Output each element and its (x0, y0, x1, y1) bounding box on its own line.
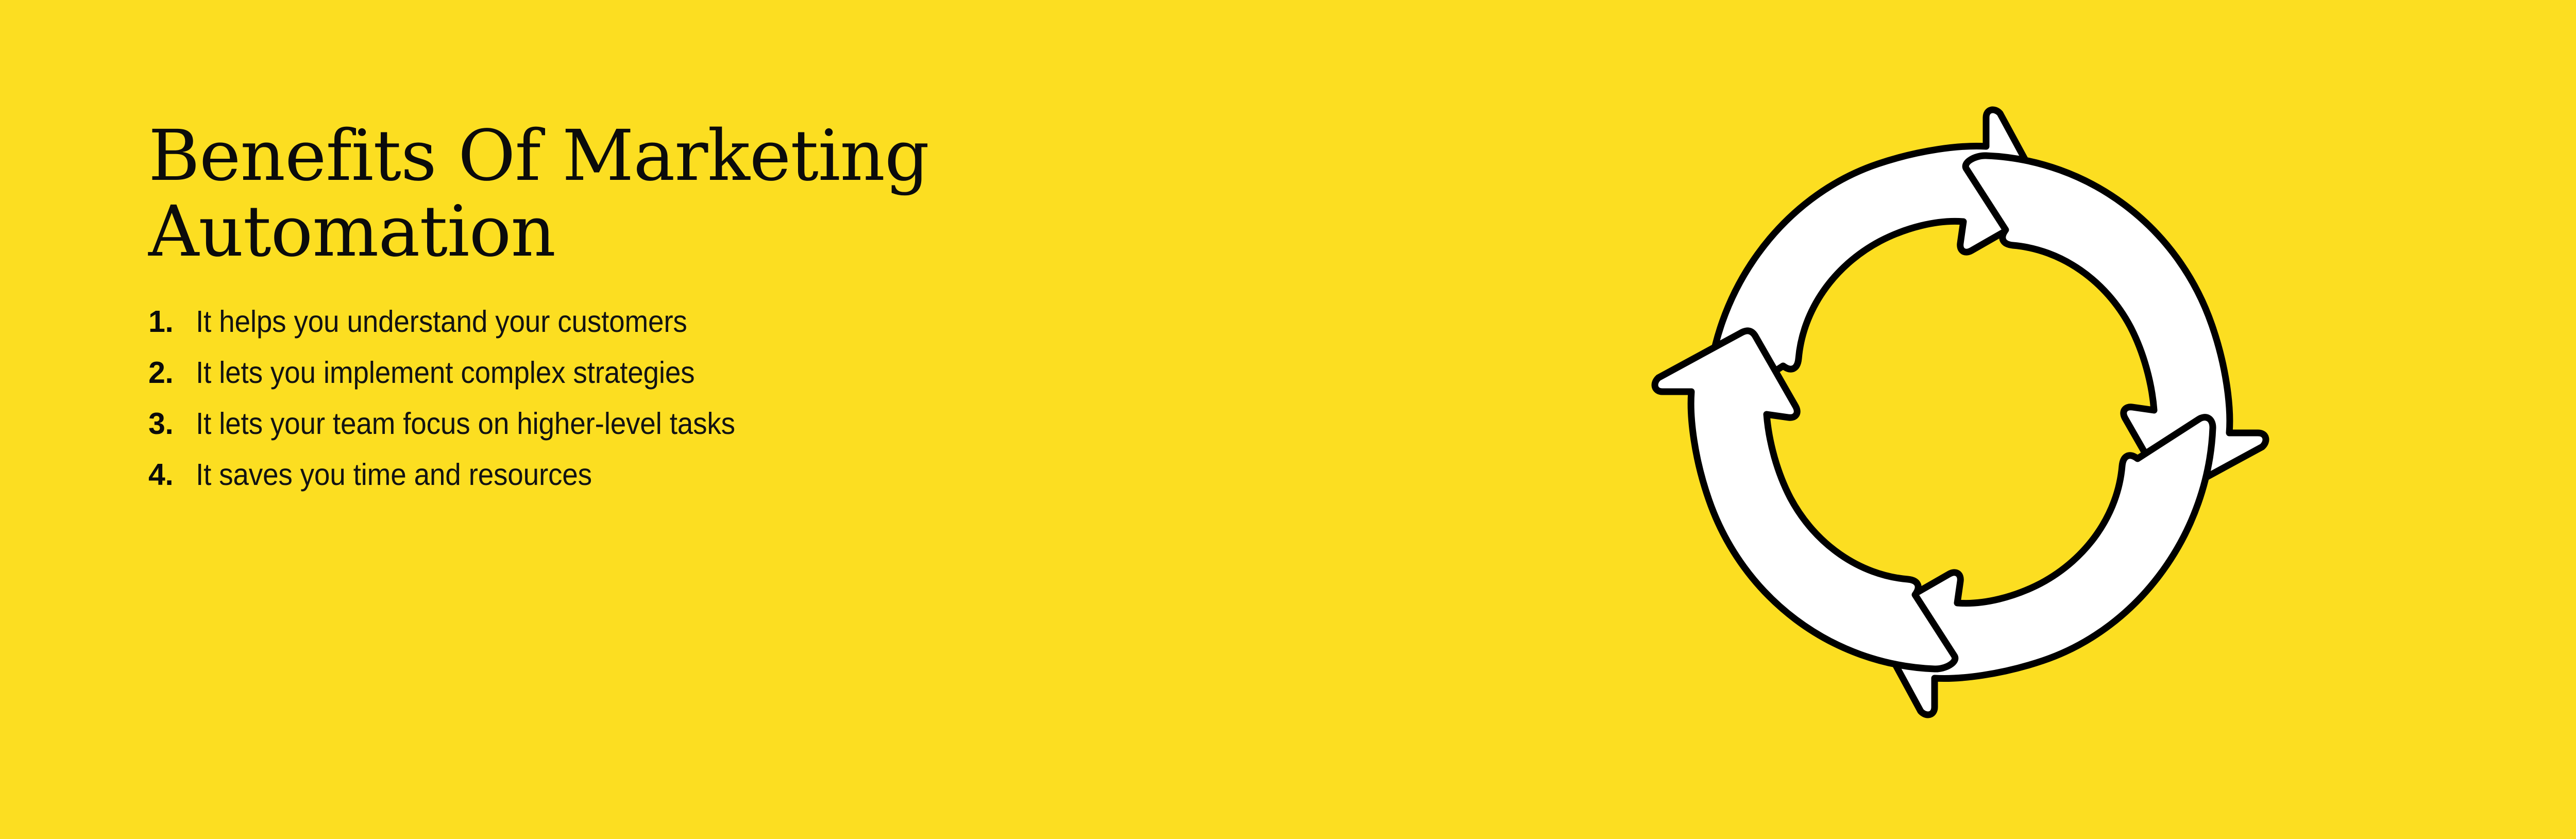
list-item-number: 1. (148, 304, 196, 339)
list-item: 1. It helps you understand your customer… (148, 304, 1411, 340)
list-item-number: 4. (148, 457, 196, 492)
list-item-label: It helps you understand your customers (196, 304, 687, 339)
list-item-label: It lets you implement complex strategies (196, 355, 694, 390)
cycle-arrows-icon (1625, 77, 2295, 747)
marketing-automation-banner: Benefits Of Marketing Automation 1. It h… (0, 0, 2576, 839)
page-title: Benefits Of Marketing Automation (148, 119, 1411, 270)
cycle-segment-right-arrow (1965, 156, 2266, 494)
list-item-number: 2. (148, 355, 196, 390)
list-item: 3. It lets your team focus on higher-lev… (148, 406, 1411, 442)
list-item: 4. It saves you time and resources (148, 457, 1411, 493)
list-item-label: It saves you time and resources (196, 457, 592, 492)
cycle-segment-left-arrow (1655, 331, 1955, 669)
list-item-label: It lets your team focus on higher-level … (196, 406, 735, 441)
cycle-arrows-svg (1625, 77, 2295, 747)
list-item-number: 3. (148, 406, 196, 441)
list-item: 2. It lets you implement complex strateg… (148, 355, 1411, 391)
text-column: Benefits Of Marketing Automation 1. It h… (148, 119, 1411, 508)
benefits-list: 1. It helps you understand your customer… (148, 304, 1411, 493)
